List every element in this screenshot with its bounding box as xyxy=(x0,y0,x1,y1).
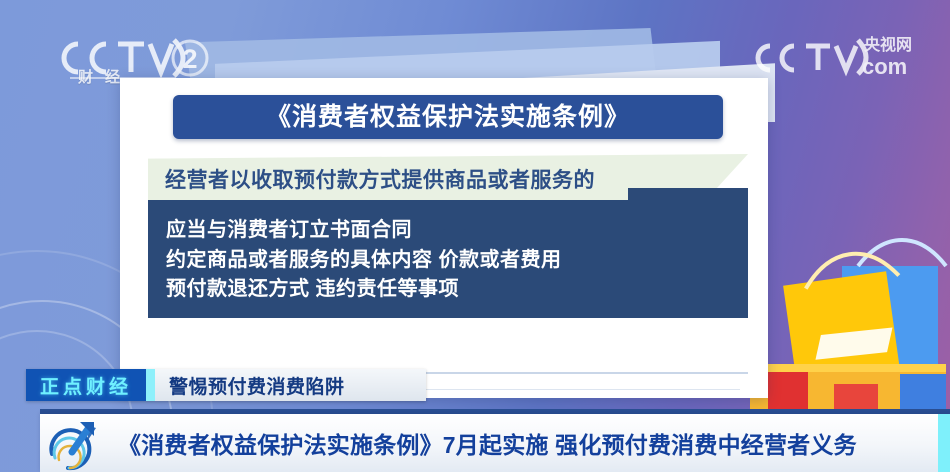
body-line: 应当与消费者订立书面合同 xyxy=(166,218,736,242)
ticker-accent-bar xyxy=(938,414,950,472)
body-line: 预付款退还方式 违约责任等事项 xyxy=(166,277,736,301)
svg-text:com: com xyxy=(862,54,907,79)
body-line: 约定商品或者服务的具体内容 价款或者费用 xyxy=(166,248,736,272)
channel-number: 2 xyxy=(182,44,197,74)
news-ticker: 《消费者权益保护法实施条例》7月起实施 强化预付费消费中经营者义务 xyxy=(40,414,950,472)
page-title: 《消费者权益保护法实施条例》 xyxy=(266,105,630,130)
shopping-bags-icon xyxy=(750,214,950,414)
ticker-headline: 《消费者权益保护法实施条例》7月起实施 强化预付费消费中经营者义务 xyxy=(114,426,938,460)
headline-topic: 警惕预付费消费陷阱 xyxy=(155,369,426,401)
program-name: 正点财经 xyxy=(26,369,146,401)
card-title-banner: 《消费者权益保护法实施条例》 xyxy=(173,95,723,139)
svg-text:央视网: 央视网 xyxy=(864,35,912,54)
cctv-com-watermark: 央视网 com xyxy=(752,28,932,82)
info-card: 《消费者权益保护法实施条例》 经营者以收取预付款方式提供商品或者服务的 应当与消… xyxy=(120,78,768,398)
broadcast-screen: 2 财经 央视网 com xyxy=(0,0,950,472)
headline-strip: 正点财经 警惕预付费消费陷阱 xyxy=(26,369,426,401)
body-text-list: 应当与消费者订立书面合同 约定商品或者服务的具体内容 价款或者费用 预付款退还方… xyxy=(166,206,736,314)
cctv-finance-circular-arrow-icon xyxy=(40,414,114,472)
headline-separator xyxy=(146,369,155,401)
divider xyxy=(420,389,740,390)
